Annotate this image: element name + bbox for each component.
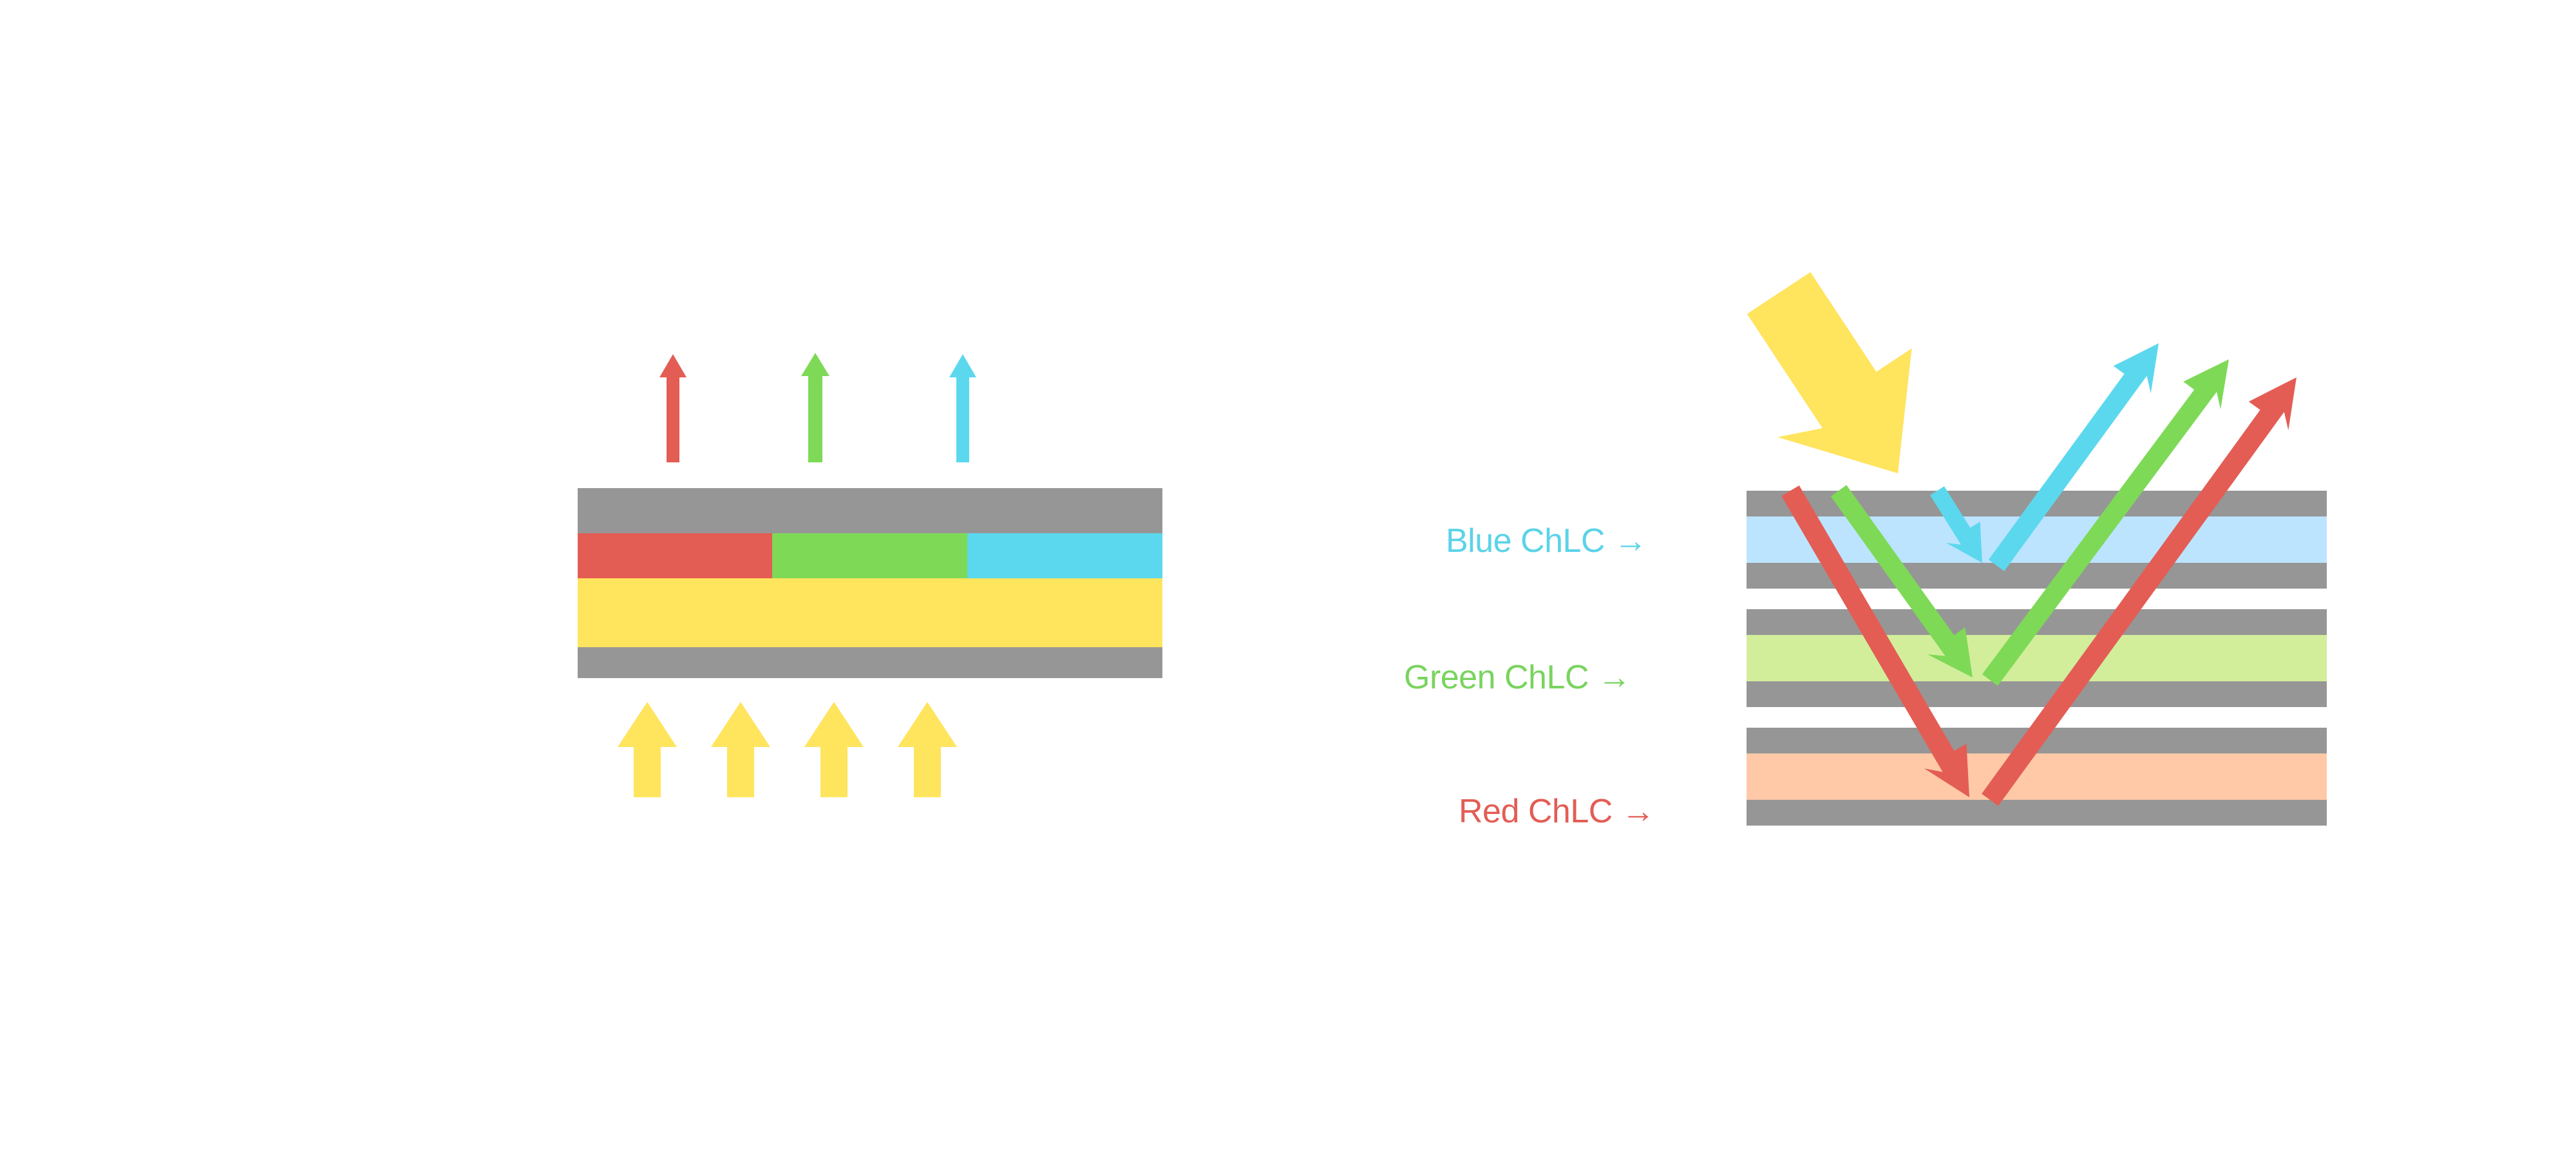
green-chlc-label: Green ChLC → (1404, 658, 1631, 697)
incident-arrow-group (1747, 272, 1912, 473)
red-chlc-label-text: Red ChLC (1459, 793, 1613, 830)
incident-white-light-arrow (1747, 272, 1912, 473)
green-bottom-electrode (1747, 681, 2327, 707)
red-chlc-label-arrow-icon: → (1622, 793, 1655, 830)
red-chlc-layer (1747, 753, 2327, 800)
blue-chlc-label-arrow-icon: → (1614, 522, 1647, 560)
red-chlc-label: Red ChLC → (1459, 792, 1654, 831)
right-panel-graphics (0, 0, 2576, 1154)
green-chlc-layer (1747, 635, 2327, 681)
red-bottom-electrode (1747, 800, 2327, 826)
blue-chlc-label-text: Blue ChLC (1446, 522, 1605, 560)
green-chlc-label-arrow-icon: → (1598, 659, 1631, 696)
diagram-canvas: Blue ChLC → Green ChLC → Red ChLC → (0, 0, 2576, 1154)
green-chlc-label-text: Green ChLC (1404, 659, 1589, 696)
blue-chlc-label: Blue ChLC → (1446, 522, 1647, 560)
right-stack-bands-group (1747, 491, 2327, 826)
